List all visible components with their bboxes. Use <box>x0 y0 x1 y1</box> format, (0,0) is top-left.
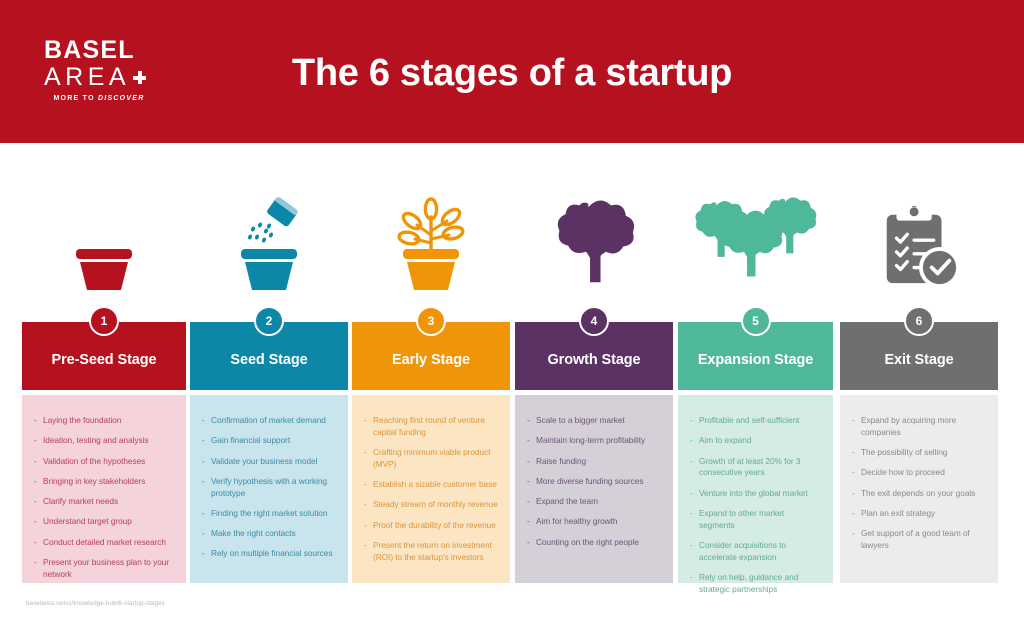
bullet-marker: - <box>527 435 536 447</box>
list-item-text: Rely on multiple financial sources <box>211 548 336 560</box>
list-item-text: Confirmation of market demand <box>211 415 336 427</box>
bullet-marker: - <box>34 516 43 528</box>
bullet-marker: - <box>34 496 43 508</box>
bullet-marker: - <box>690 435 699 447</box>
stage-column-2: 2Seed Stage-Confirmation of market deman… <box>190 322 348 583</box>
bullet-marker: - <box>364 447 373 471</box>
list-item: -Make the right contacts <box>202 528 336 540</box>
bullet-marker: - <box>34 456 43 468</box>
list-item-text: The exit depends on your goals <box>861 488 986 500</box>
bullet-marker: - <box>202 456 211 468</box>
list-item-text: Maintain long-term profitability <box>536 435 661 447</box>
list-item-text: Consider acquisitions to accelerate expa… <box>699 540 821 564</box>
stage-number-badge: 4 <box>579 306 609 336</box>
stage-title: Exit Stage <box>878 352 959 368</box>
bullet-marker: - <box>852 415 861 439</box>
list-item-text: Present the return on investment (ROI) t… <box>373 540 498 564</box>
list-item: -Consider acquisitions to accelerate exp… <box>690 540 821 564</box>
stage-body-3: -Reaching first round of venture capital… <box>352 395 510 583</box>
stage-title: Pre-Seed Stage <box>46 352 163 368</box>
bullet-marker: - <box>527 537 536 549</box>
list-item: -Expand the team <box>527 496 661 508</box>
list-item-text: Present your business plan to your netwo… <box>43 557 174 581</box>
list-item: -Clarify market needs <box>34 496 174 508</box>
stage-header-4[interactable]: 4Growth Stage <box>515 322 673 390</box>
stage-columns: 1Pre-Seed Stage-Laying the foundation-Id… <box>0 0 1024 628</box>
list-item: -Laying the foundation <box>34 415 174 427</box>
bullet-marker: - <box>202 435 211 447</box>
list-item: -Proof the durability of the revenue <box>364 520 498 532</box>
list-item: -Ideation, testing and analysis <box>34 435 174 447</box>
bullet-marker: - <box>364 499 373 511</box>
stage-header-2[interactable]: 2Seed Stage <box>190 322 348 390</box>
list-item: -Expand by acquiring more companies <box>852 415 986 439</box>
bullet-marker: - <box>202 476 211 500</box>
list-item-text: Establish a sizable customer base <box>373 479 498 491</box>
list-item: -Decide how to proceed <box>852 467 986 479</box>
list-item-text: Understand target group <box>43 516 174 528</box>
stage-column-6: 6Exit Stage-Expand by acquiring more com… <box>840 322 998 583</box>
list-item-text: More diverse funding sources <box>536 476 661 488</box>
list-item: -Present your business plan to your netw… <box>34 557 174 581</box>
list-item: -Venture into the global market <box>690 488 821 500</box>
list-item: -Establish a sizable customer base <box>364 479 498 491</box>
stage-header-6[interactable]: 6Exit Stage <box>840 322 998 390</box>
bullet-marker: - <box>202 548 211 560</box>
list-item: -Validate your business model <box>202 456 336 468</box>
list-item: -Plan an exit strategy <box>852 508 986 520</box>
list-item-text: Scale to a bigger market <box>536 415 661 427</box>
stage-body-4: -Scale to a bigger market-Maintain long-… <box>515 395 673 583</box>
bullet-marker: - <box>852 528 861 552</box>
list-item: -More diverse funding sources <box>527 476 661 488</box>
bullet-marker: - <box>202 528 211 540</box>
list-item-text: Rely on help, guidance and strategic par… <box>699 572 821 596</box>
stage-body-2: -Confirmation of market demand-Gain fina… <box>190 395 348 583</box>
list-item: -Raise funding <box>527 456 661 468</box>
stage-body-6: -Expand by acquiring more companies-The … <box>840 395 998 583</box>
list-item-text: Expand the team <box>536 496 661 508</box>
list-item: -Aim for healthy growth <box>527 516 661 528</box>
bullet-marker: - <box>34 476 43 488</box>
list-item: -Get support of a good team of lawyers <box>852 528 986 552</box>
list-item: -The possibility of selling <box>852 447 986 459</box>
bullet-marker: - <box>852 467 861 479</box>
stage-number-badge: 6 <box>904 306 934 336</box>
bullet-marker: - <box>690 415 699 427</box>
bullet-marker: - <box>690 540 699 564</box>
bullet-marker: - <box>690 488 699 500</box>
list-item: -Gain financial support <box>202 435 336 447</box>
list-item-text: Decide how to proceed <box>861 467 986 479</box>
list-item-text: Finding the right market solution <box>211 508 336 520</box>
bullet-marker: - <box>202 415 211 427</box>
list-item-text: Clarify market needs <box>43 496 174 508</box>
bullet-marker: - <box>527 476 536 488</box>
source-url: baselarea.swiss/knowledge-hub/6-startup-… <box>26 600 165 607</box>
list-item: -Expand to other market segments <box>690 508 821 532</box>
bullet-marker: - <box>364 479 373 491</box>
stage-title: Early Stage <box>386 352 476 368</box>
stage-column-5: 5Expansion Stage-Profitable and self-suf… <box>678 322 833 583</box>
list-item: -Profitable and self-sufficient <box>690 415 821 427</box>
bullet-marker: - <box>527 496 536 508</box>
list-item-text: Profitable and self-sufficient <box>699 415 821 427</box>
list-item-text: Ideation, testing and analysis <box>43 435 174 447</box>
list-item-text: Venture into the global market <box>699 488 821 500</box>
list-item-text: Aim for healthy growth <box>536 516 661 528</box>
bullet-marker: - <box>364 540 373 564</box>
stage-title: Expansion Stage <box>692 352 819 368</box>
stage-header-1[interactable]: 1Pre-Seed Stage <box>22 322 186 390</box>
bullet-marker: - <box>34 557 43 581</box>
bullet-marker: - <box>34 537 43 549</box>
stage-column-1: 1Pre-Seed Stage-Laying the foundation-Id… <box>22 322 186 583</box>
bullet-marker: - <box>364 520 373 532</box>
list-item-text: Steady stream of monthly revenue <box>373 499 498 511</box>
list-item-text: Bringing in key stakeholders <box>43 476 174 488</box>
bullet-marker: - <box>852 447 861 459</box>
list-item: -Scale to a bigger market <box>527 415 661 427</box>
bullet-marker: - <box>527 456 536 468</box>
list-item: -Steady stream of monthly revenue <box>364 499 498 511</box>
stage-body-5: -Profitable and self-sufficient-Aim to e… <box>678 395 833 583</box>
stage-number-badge: 3 <box>416 306 446 336</box>
list-item: -Rely on help, guidance and strategic pa… <box>690 572 821 596</box>
list-item-text: Get support of a good team of lawyers <box>861 528 986 552</box>
list-item: -Rely on multiple financial sources <box>202 548 336 560</box>
list-item: -Conduct detailed market research <box>34 537 174 549</box>
list-item: -Aim to expand <box>690 435 821 447</box>
stage-number-badge: 1 <box>89 306 119 336</box>
bullet-marker: - <box>690 572 699 596</box>
list-item: -Reaching first round of venture capital… <box>364 415 498 439</box>
list-item-text: Raise funding <box>536 456 661 468</box>
bullet-marker: - <box>527 516 536 528</box>
list-item: -Present the return on investment (ROI) … <box>364 540 498 564</box>
stage-column-3: 3Early Stage-Reaching first round of ven… <box>352 322 510 583</box>
list-item-text: Reaching first round of venture capital … <box>373 415 498 439</box>
stage-title: Seed Stage <box>224 352 313 368</box>
list-item-text: Counting on the right people <box>536 537 661 549</box>
list-item-text: Make the right contacts <box>211 528 336 540</box>
stage-number-badge: 2 <box>254 306 284 336</box>
list-item-text: Aim to expand <box>699 435 821 447</box>
list-item: -Confirmation of market demand <box>202 415 336 427</box>
stage-title: Growth Stage <box>541 352 646 368</box>
list-item-text: Verify hypothesis with a working prototy… <box>211 476 336 500</box>
list-item-text: Validation of the hypotheses <box>43 456 174 468</box>
list-item: -Growth of at least 20% for 3 consecutiv… <box>690 456 821 480</box>
list-item-text: Growth of at least 20% for 3 consecutive… <box>699 456 821 480</box>
bullet-marker: - <box>690 456 699 480</box>
list-item: -Verify hypothesis with a working protot… <box>202 476 336 500</box>
list-item-text: Crafting minimum viable product (MVP) <box>373 447 498 471</box>
list-item: -The exit depends on your goals <box>852 488 986 500</box>
bullet-marker: - <box>690 508 699 532</box>
list-item-text: Plan an exit strategy <box>861 508 986 520</box>
stage-number-badge: 5 <box>741 306 771 336</box>
stage-header-3[interactable]: 3Early Stage <box>352 322 510 390</box>
list-item-text: Gain financial support <box>211 435 336 447</box>
list-item: -Finding the right market solution <box>202 508 336 520</box>
list-item: -Bringing in key stakeholders <box>34 476 174 488</box>
list-item-text: Expand by acquiring more companies <box>861 415 986 439</box>
list-item-text: Laying the foundation <box>43 415 174 427</box>
bullet-marker: - <box>34 415 43 427</box>
bullet-marker: - <box>852 508 861 520</box>
stage-header-5[interactable]: 5Expansion Stage <box>678 322 833 390</box>
list-item: -Counting on the right people <box>527 537 661 549</box>
list-item-text: Conduct detailed market research <box>43 537 174 549</box>
bullet-marker: - <box>527 415 536 427</box>
list-item: -Crafting minimum viable product (MVP) <box>364 447 498 471</box>
stage-column-4: 4Growth Stage-Scale to a bigger market-M… <box>515 322 673 583</box>
bullet-marker: - <box>364 415 373 439</box>
stage-body-1: -Laying the foundation-Ideation, testing… <box>22 395 186 583</box>
list-item: -Validation of the hypotheses <box>34 456 174 468</box>
bullet-marker: - <box>202 508 211 520</box>
list-item: -Maintain long-term profitability <box>527 435 661 447</box>
list-item-text: Expand to other market segments <box>699 508 821 532</box>
list-item: -Understand target group <box>34 516 174 528</box>
bullet-marker: - <box>34 435 43 447</box>
bullet-marker: - <box>852 488 861 500</box>
list-item-text: The possibility of selling <box>861 447 986 459</box>
list-item-text: Validate your business model <box>211 456 336 468</box>
list-item-text: Proof the durability of the revenue <box>373 520 498 532</box>
